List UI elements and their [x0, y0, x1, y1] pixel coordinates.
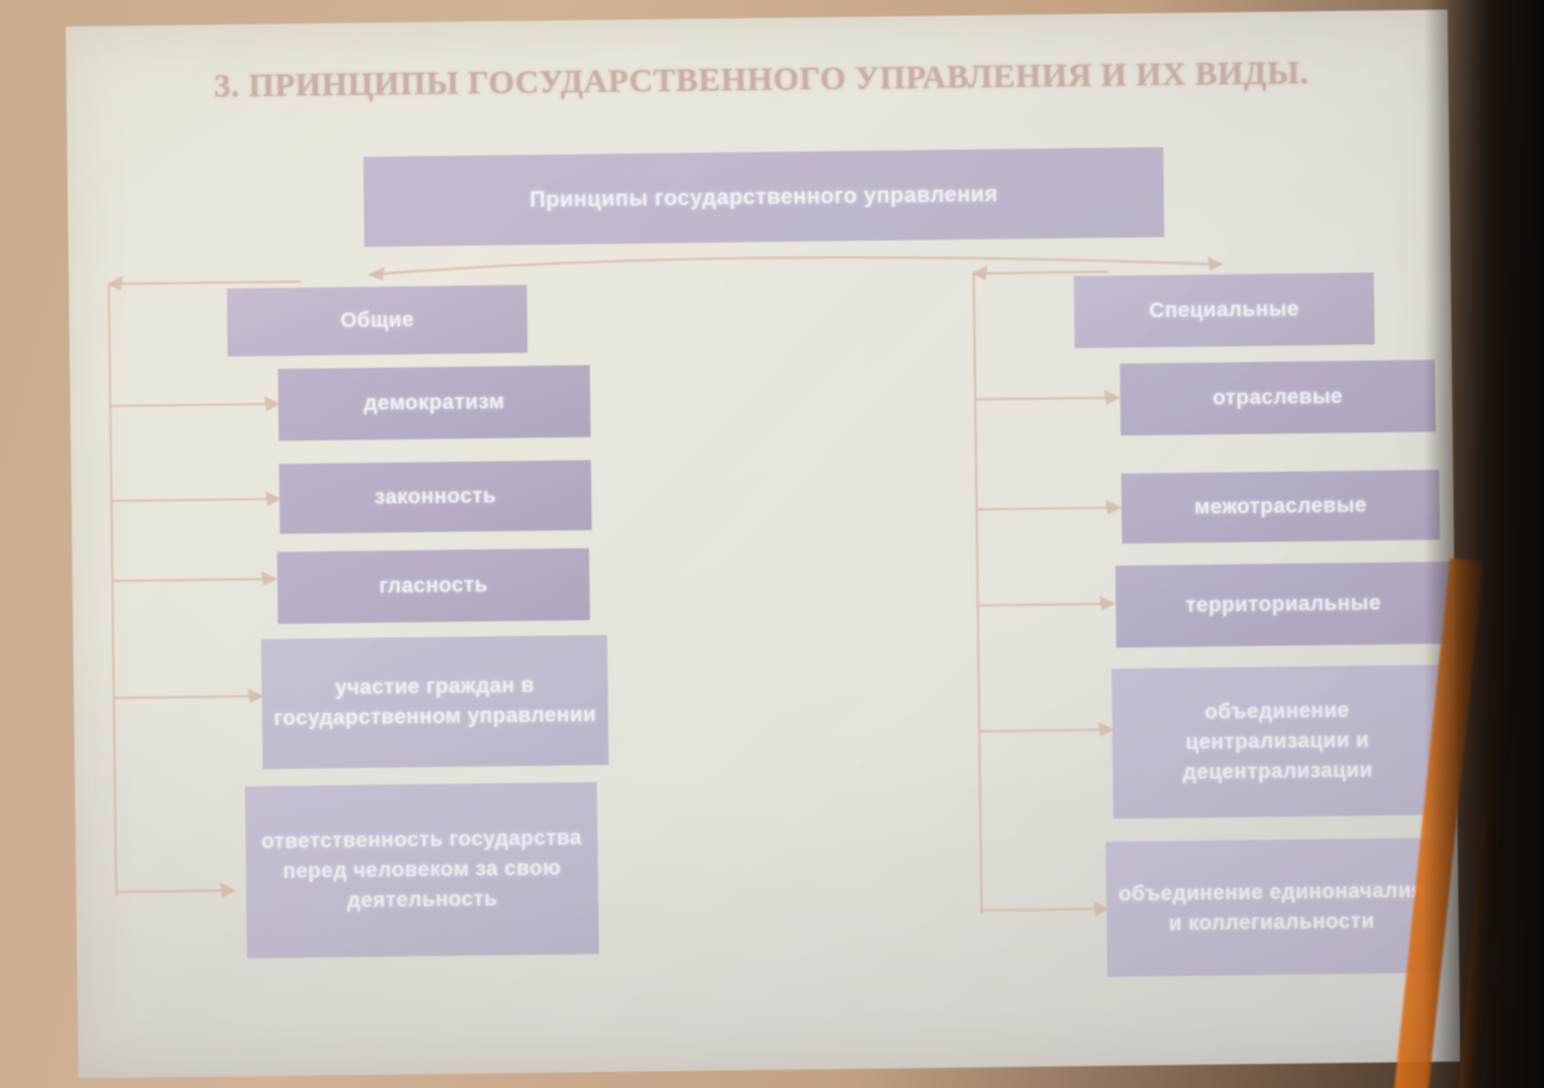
left-item-arrowhead-3	[261, 571, 277, 586]
box-specialnye-item-1[interactable]: отраслевые	[1120, 360, 1436, 436]
box-obshchie-item-2[interactable]: законность	[279, 460, 592, 534]
right-item-arrowhead-3	[1100, 596, 1116, 611]
box-specialnye-item-4[interactable]: объединение централизации и децентрализа…	[1112, 665, 1444, 819]
box-specialnye-item-5[interactable]: объединение единоначалия и коллегиальнос…	[1106, 838, 1438, 977]
left-item-line-5	[116, 891, 231, 892]
box-specialnye-item-2[interactable]: межотраслевые	[1121, 470, 1440, 544]
right-item-line-1	[975, 398, 1115, 400]
right-item-arrowhead-2	[1105, 500, 1121, 515]
left-branch-heading-line	[109, 282, 301, 284]
left-bracket-spine	[109, 284, 116, 896]
root-arc-right-arrowhead	[1208, 256, 1224, 270]
right-item-line-5	[981, 909, 1104, 911]
slide-surface: 3. ПРИНЦИПЫ ГОСУДАРСТВЕННОГО УПРАВЛЕНИЯ …	[66, 10, 1461, 1079]
left-item-line-4	[114, 696, 259, 698]
dark-background-region	[1424, 0, 1544, 1088]
box-obshchie-item-4[interactable]: участие граждан в государственном управл…	[261, 635, 609, 769]
box-obshchie-item-5[interactable]: ответственность государства перед челове…	[245, 782, 599, 958]
left-item-line-2	[111, 499, 276, 501]
box-root[interactable]: Принципы государственного управления	[363, 147, 1164, 247]
box-branch-heading-obshchie[interactable]: Общие	[227, 285, 528, 357]
box-obshchie-item-1[interactable]: демократизм	[278, 365, 591, 441]
box-branch-heading-specialnye[interactable]: Специальные	[1074, 273, 1375, 349]
photo-scene: 3. ПРИНЦИПЫ ГОСУДАРСТВЕННОГО УПРАВЛЕНИЯ …	[0, 0, 1544, 1088]
left-item-arrowhead-5	[220, 882, 236, 897]
root-arc-left-arrowhead	[369, 267, 385, 281]
right-bracket-spine	[974, 273, 982, 913]
right-item-line-3	[978, 604, 1111, 606]
left-item-line-3	[112, 579, 272, 581]
right-item-line-4	[979, 730, 1109, 732]
box-specialnye-item-3[interactable]: территориальные	[1115, 562, 1451, 648]
left-item-line-1	[110, 404, 275, 406]
box-obshchie-item-3[interactable]: гласность	[277, 548, 590, 624]
right-item-line-2	[977, 508, 1117, 510]
right-item-arrowhead-1	[1104, 390, 1120, 405]
projected-slide: 3. ПРИНЦИПЫ ГОСУДАРСТВЕННОГО УПРАВЛЕНИЯ …	[66, 10, 1461, 1079]
right-branch-heading-line	[974, 272, 1109, 274]
